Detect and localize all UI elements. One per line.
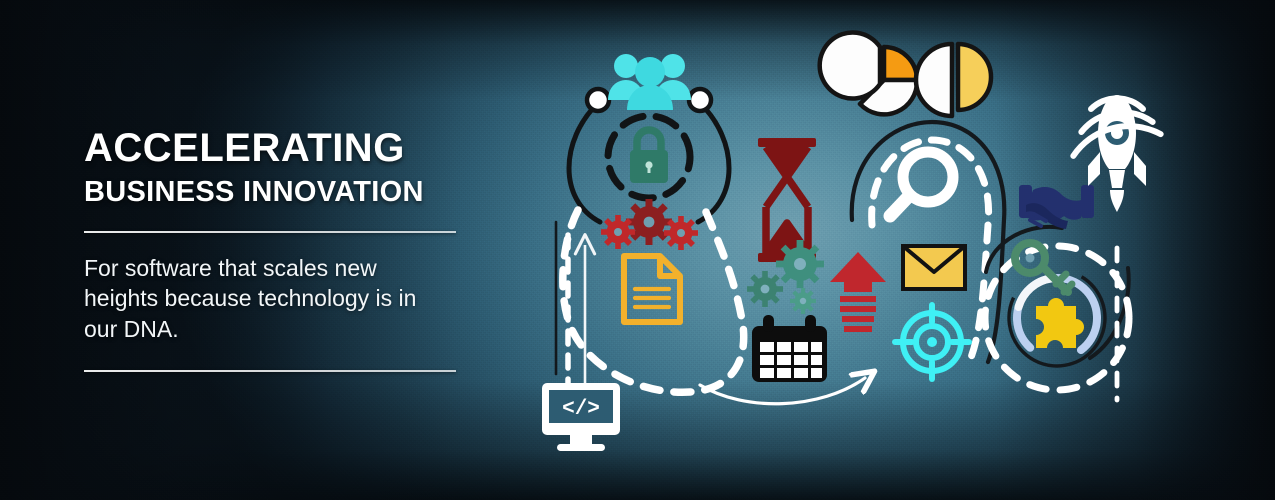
envelope-icon[interactable] bbox=[903, 246, 965, 289]
code-glyph: </> bbox=[562, 398, 600, 421]
page-subtitle: BUSINESS INNOVATION bbox=[84, 176, 484, 209]
tagline-text: For software that scales new heights bec… bbox=[84, 253, 454, 344]
divider-bottom bbox=[84, 370, 456, 372]
hero-banner: ACCELERATING BUSINESS INNOVATION For sof… bbox=[0, 0, 1275, 500]
page-title: ACCELERATING bbox=[84, 128, 484, 169]
headline-block: ACCELERATING BUSINESS INNOVATION For sof… bbox=[84, 128, 484, 372]
divider-top bbox=[84, 231, 456, 233]
